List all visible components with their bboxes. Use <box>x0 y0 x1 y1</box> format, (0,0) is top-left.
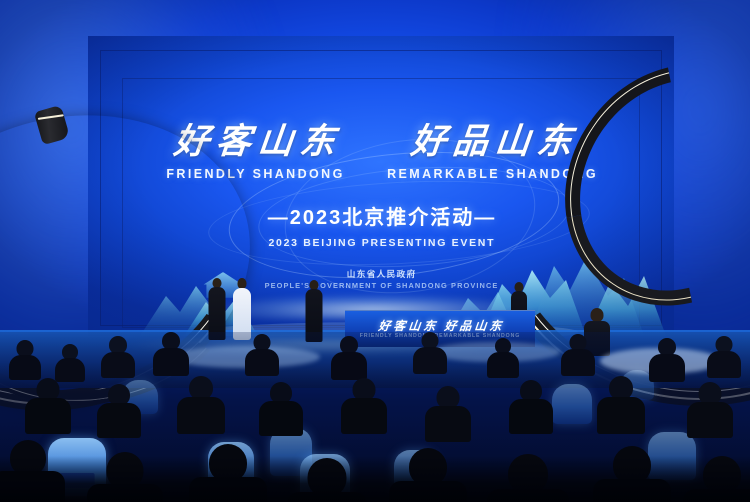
audience-person <box>596 376 646 434</box>
audience-person <box>508 380 554 434</box>
stage-person-host-male <box>206 278 228 340</box>
audience-person <box>686 382 734 438</box>
audience-person <box>258 382 304 436</box>
person-shoulders <box>25 398 71 434</box>
audience-person <box>24 378 72 434</box>
audience-person <box>412 332 448 374</box>
person-shoulders <box>177 397 225 434</box>
stage-person-host-female <box>230 278 254 340</box>
audience-person <box>100 336 136 378</box>
person-shoulders <box>707 351 741 378</box>
audience-person <box>8 340 42 380</box>
audience-person <box>330 336 368 380</box>
foreground-shadow-band <box>0 456 750 502</box>
person-shoulders <box>597 397 645 434</box>
audience-person <box>648 338 686 382</box>
audience-person <box>244 334 280 376</box>
audience-person <box>96 384 142 438</box>
person-head <box>591 308 604 322</box>
audience-person <box>340 378 388 434</box>
audience-person <box>176 376 226 434</box>
person-shoulders <box>97 403 141 438</box>
person-shoulders <box>341 398 387 434</box>
person-shoulders <box>331 352 367 380</box>
person-shoulders <box>101 352 135 378</box>
person-shoulders <box>153 348 189 376</box>
audience-person <box>706 336 742 378</box>
chair-back <box>552 384 592 424</box>
person-shoulders <box>425 406 471 442</box>
person-shoulders <box>649 354 685 382</box>
person-shoulders <box>687 402 733 438</box>
audience-person <box>54 344 86 382</box>
person-shoulders <box>561 349 595 376</box>
stage-presentation-photo: 好客山东 FRIENDLY SHANDONG 好品山东 REMARKABLE S… <box>0 0 750 502</box>
audience-person <box>152 332 190 376</box>
person-shoulders <box>509 399 553 434</box>
person-shoulders <box>245 349 279 376</box>
person-shoulders <box>9 355 41 380</box>
audience-person <box>560 334 596 376</box>
person-shoulders <box>413 347 447 374</box>
audience-area <box>0 332 750 502</box>
audience-person <box>486 338 520 378</box>
audience-person <box>424 386 472 442</box>
person-shoulders <box>259 401 303 436</box>
person-shoulders <box>487 352 519 378</box>
